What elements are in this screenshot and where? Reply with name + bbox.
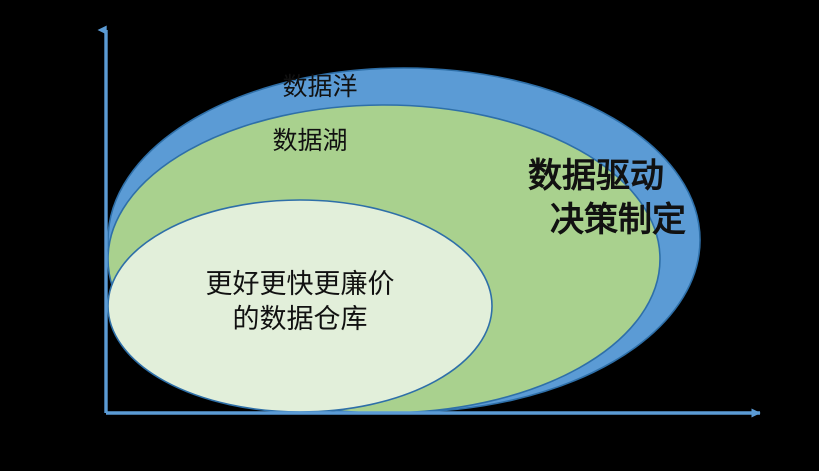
nested-ellipse-diagram (0, 0, 819, 471)
ellipse-group (108, 68, 700, 413)
data-warehouse-ellipse[interactable] (108, 200, 492, 412)
diagram-canvas: 数据洋 数据湖 数据驱动决策制定 更好更快更廉价的数据仓库 (0, 0, 819, 471)
